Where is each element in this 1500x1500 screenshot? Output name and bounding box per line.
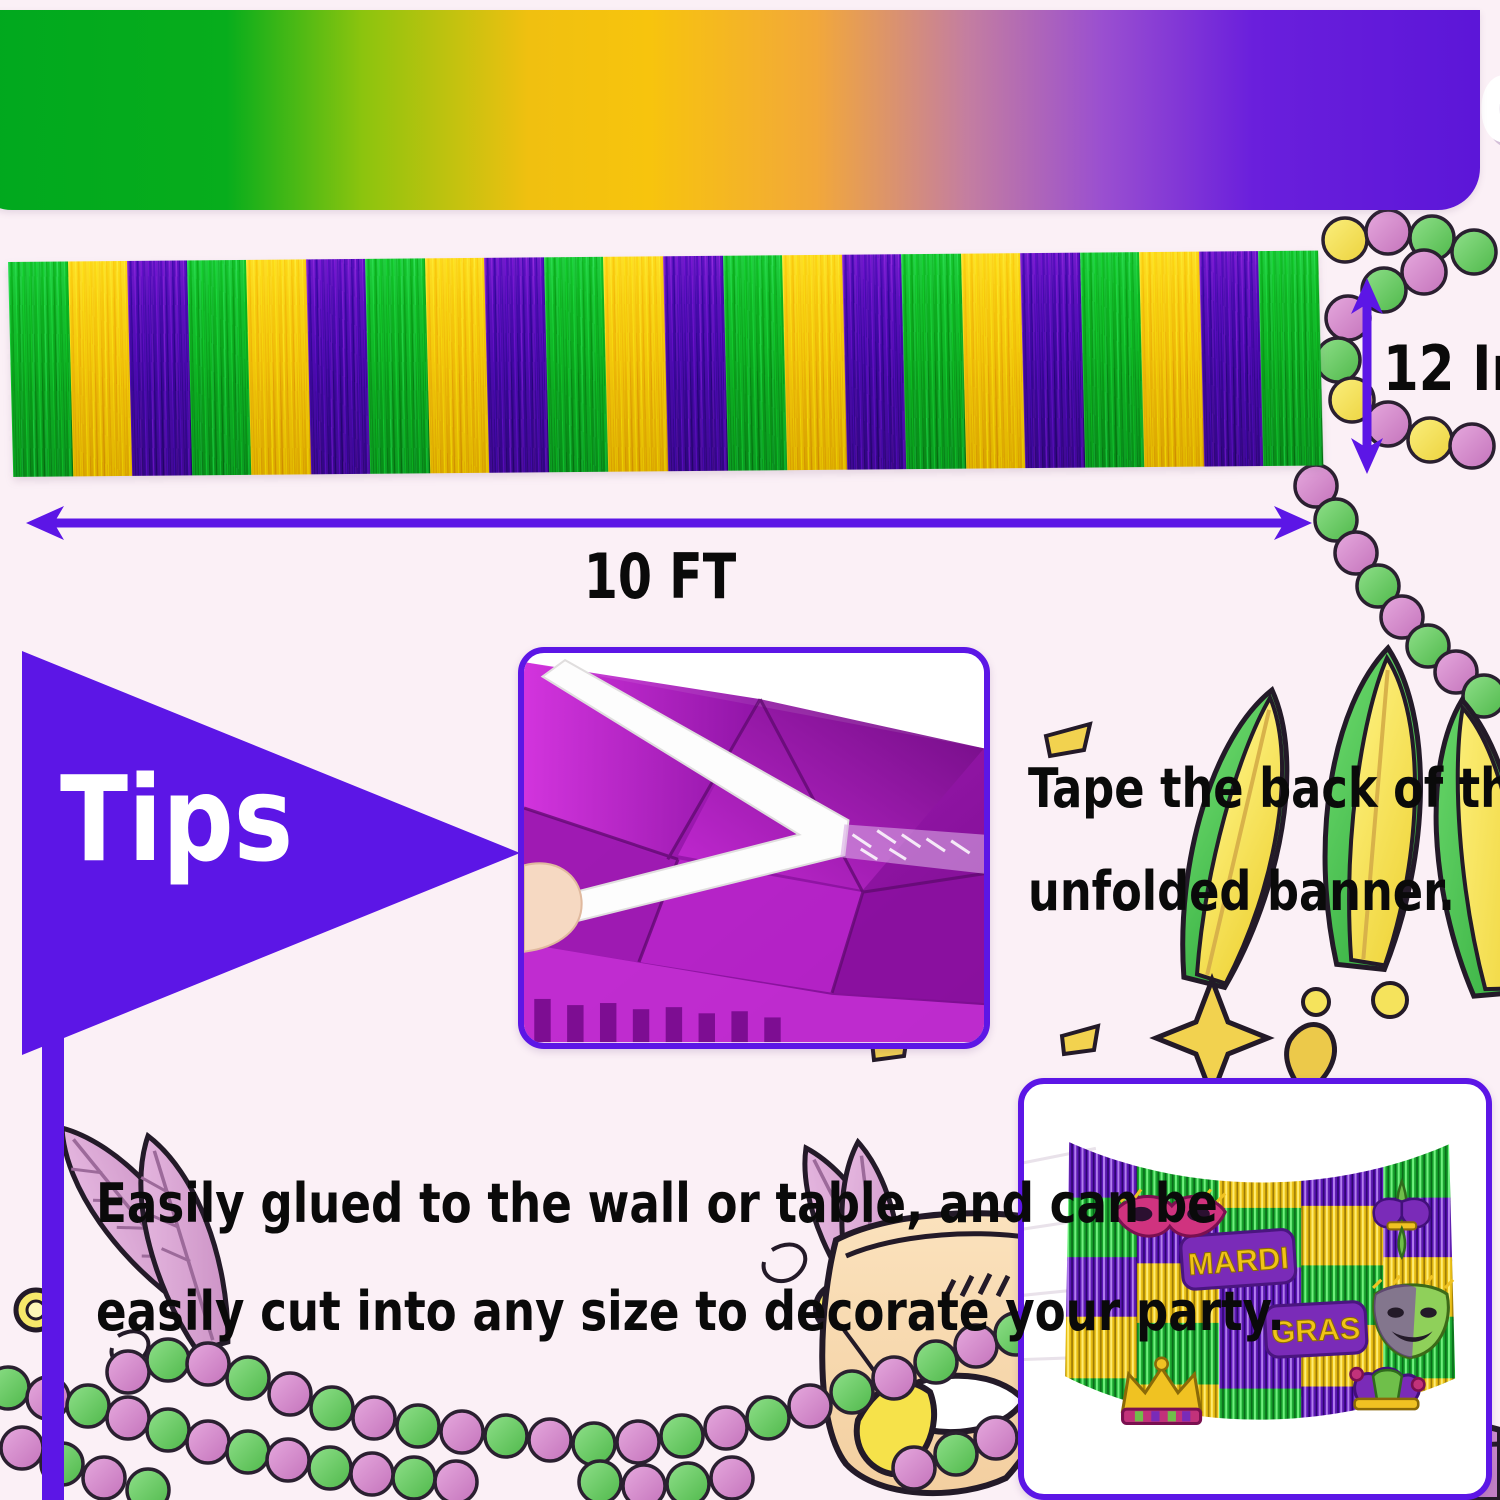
left-accent-rail — [42, 1020, 64, 1500]
tips-label: Tips — [60, 760, 293, 878]
header-banner — [0, 10, 1480, 210]
garland-stripe-22 — [1259, 251, 1324, 466]
garland-stripe-3 — [127, 260, 192, 475]
garland-stripe-11 — [604, 256, 669, 471]
garland-stripe-20 — [1139, 252, 1204, 467]
bottom-caption-line-1: Easily glued to the wall or table, and c… — [96, 1150, 980, 1258]
garland-stripe-8 — [425, 258, 490, 473]
tape-caption-line-1: Tape the back of the — [1028, 738, 1414, 841]
tape-caption-line-2: unfolded banner. — [1028, 841, 1414, 944]
garland-stripe-17 — [961, 253, 1026, 468]
garland-stripe-12 — [663, 256, 728, 471]
bottom-caption-line-2: easily cut into any size to decorate you… — [96, 1258, 980, 1366]
garland-stripe-6 — [306, 259, 371, 474]
svg-text:MARDI: MARDI — [1187, 1240, 1290, 1282]
garland-stripe-1 — [8, 261, 73, 476]
tape-photo-card[interactable] — [518, 647, 990, 1049]
bead-strand-right-middle — [1295, 465, 1500, 717]
foil-fringe-stripes — [8, 251, 1323, 477]
garland-stripe-7 — [365, 258, 430, 473]
garland-stripe-21 — [1199, 251, 1264, 466]
garland-stripe-15 — [842, 254, 907, 469]
height-label: 12 In — [1383, 332, 1500, 405]
purple-foil-tape-photo — [524, 653, 984, 1043]
garland-stripe-16 — [901, 254, 966, 469]
tape-caption: Tape the back of the unfolded banner. — [1028, 738, 1414, 943]
garland-stripe-9 — [484, 257, 549, 472]
garland-stripe-14 — [782, 255, 847, 470]
garland-stripe-10 — [544, 257, 609, 472]
garland-stripe-13 — [723, 255, 788, 470]
garland-stripe-4 — [187, 260, 252, 475]
garland-stripe-18 — [1020, 253, 1085, 468]
garland-stripe-5 — [246, 259, 311, 474]
bottom-caption: Easily glued to the wall or table, and c… — [96, 1150, 980, 1366]
garland-stripe-19 — [1080, 252, 1145, 467]
product-infographic: 10PCS Mardi Gras Garland 12 In 10 FT Tip… — [0, 0, 1500, 1500]
garland-product-image — [8, 262, 1318, 477]
width-label: 10 FT — [79, 540, 1241, 613]
garland-stripe-2 — [68, 261, 133, 476]
